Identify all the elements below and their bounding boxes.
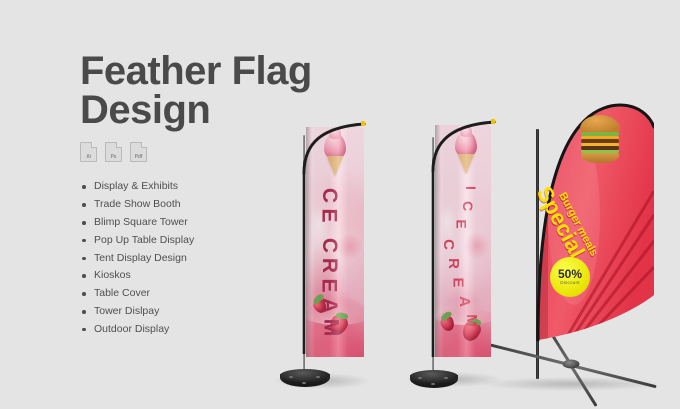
ps-file-icon-label: Ps: [107, 154, 120, 160]
pdf-file-icon: Pdf: [130, 142, 147, 162]
flag-pole-curved-spine: [402, 109, 512, 409]
feather-flag-ice-cream-right: I C E C R E A M: [402, 109, 512, 409]
discount-badge: 50% Discount: [550, 257, 590, 297]
ai-file-icon-label: Ai: [82, 154, 95, 160]
discount-badge-label: Discount: [560, 281, 579, 286]
flag-fabric: Special Burger meals 50% Discount: [504, 95, 654, 365]
flag-pole-tip-icon: [491, 119, 495, 124]
feather-flag-ice-cream-left: C E C R E A M: [268, 109, 378, 409]
discount-badge-value: 50%: [558, 268, 582, 280]
pdf-file-icon-label: Pdf: [132, 154, 145, 160]
teardrop-headline-group: Special Burger meals: [504, 95, 654, 365]
ai-file-icon: Ai: [80, 142, 97, 162]
poster-canvas: Feather Flag Design Ai Ps Pdf Display & …: [0, 0, 680, 409]
ps-file-icon: Ps: [105, 142, 122, 162]
flag-pole-curved-spine: [268, 109, 378, 409]
flag-pole-tip-icon: [361, 121, 365, 126]
